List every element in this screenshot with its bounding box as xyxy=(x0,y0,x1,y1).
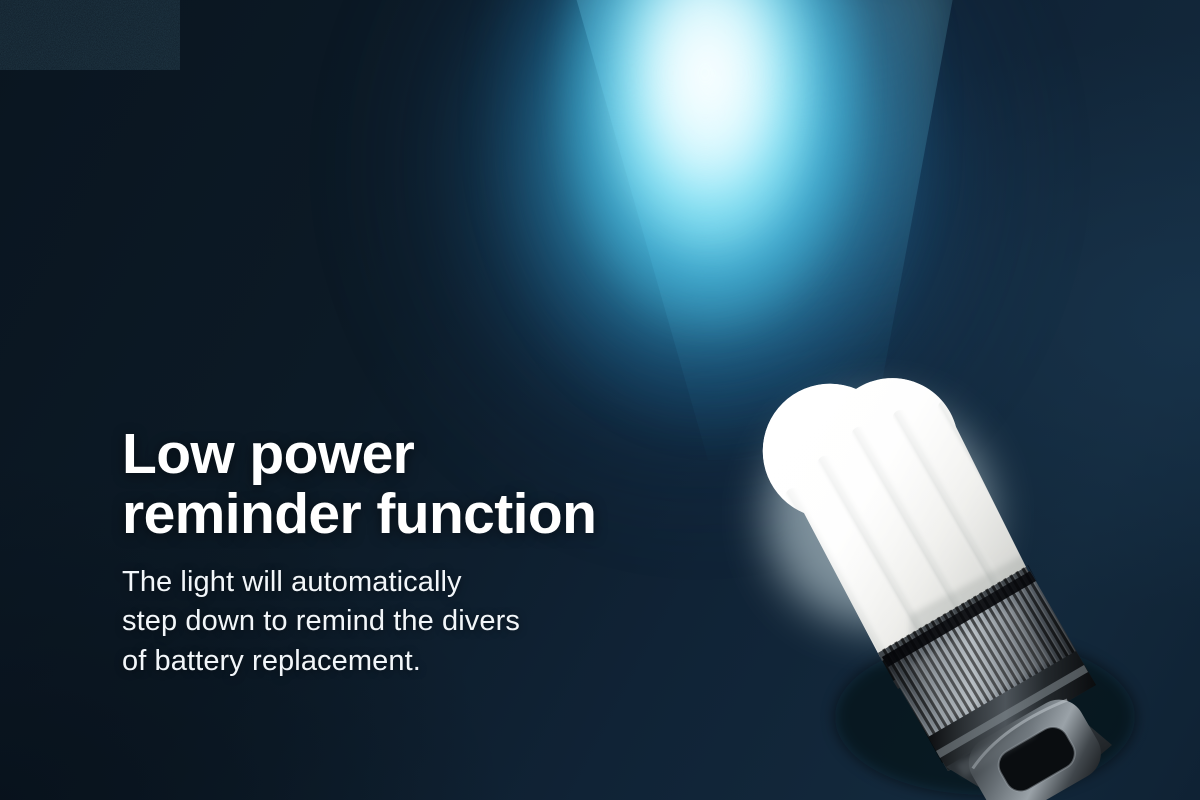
copy-block: Low power reminder function The light wi… xyxy=(122,424,742,681)
body-line-1: The light will automatically xyxy=(122,563,742,602)
headline-line-2: reminder function xyxy=(122,484,742,544)
beam-hotspot xyxy=(600,0,810,260)
headline-line-1: Low power xyxy=(122,424,742,484)
banner-stage: XTAR xyxy=(0,0,1200,800)
beam-core-glow xyxy=(545,0,865,370)
film-grain-overlay xyxy=(0,0,180,70)
product-flashlight: XTAR xyxy=(760,365,1160,800)
body-line-3: of battery replacement. xyxy=(122,642,742,681)
body-line-2: step down to remind the divers xyxy=(122,602,742,641)
film-grain-overlay-fine xyxy=(0,0,180,70)
